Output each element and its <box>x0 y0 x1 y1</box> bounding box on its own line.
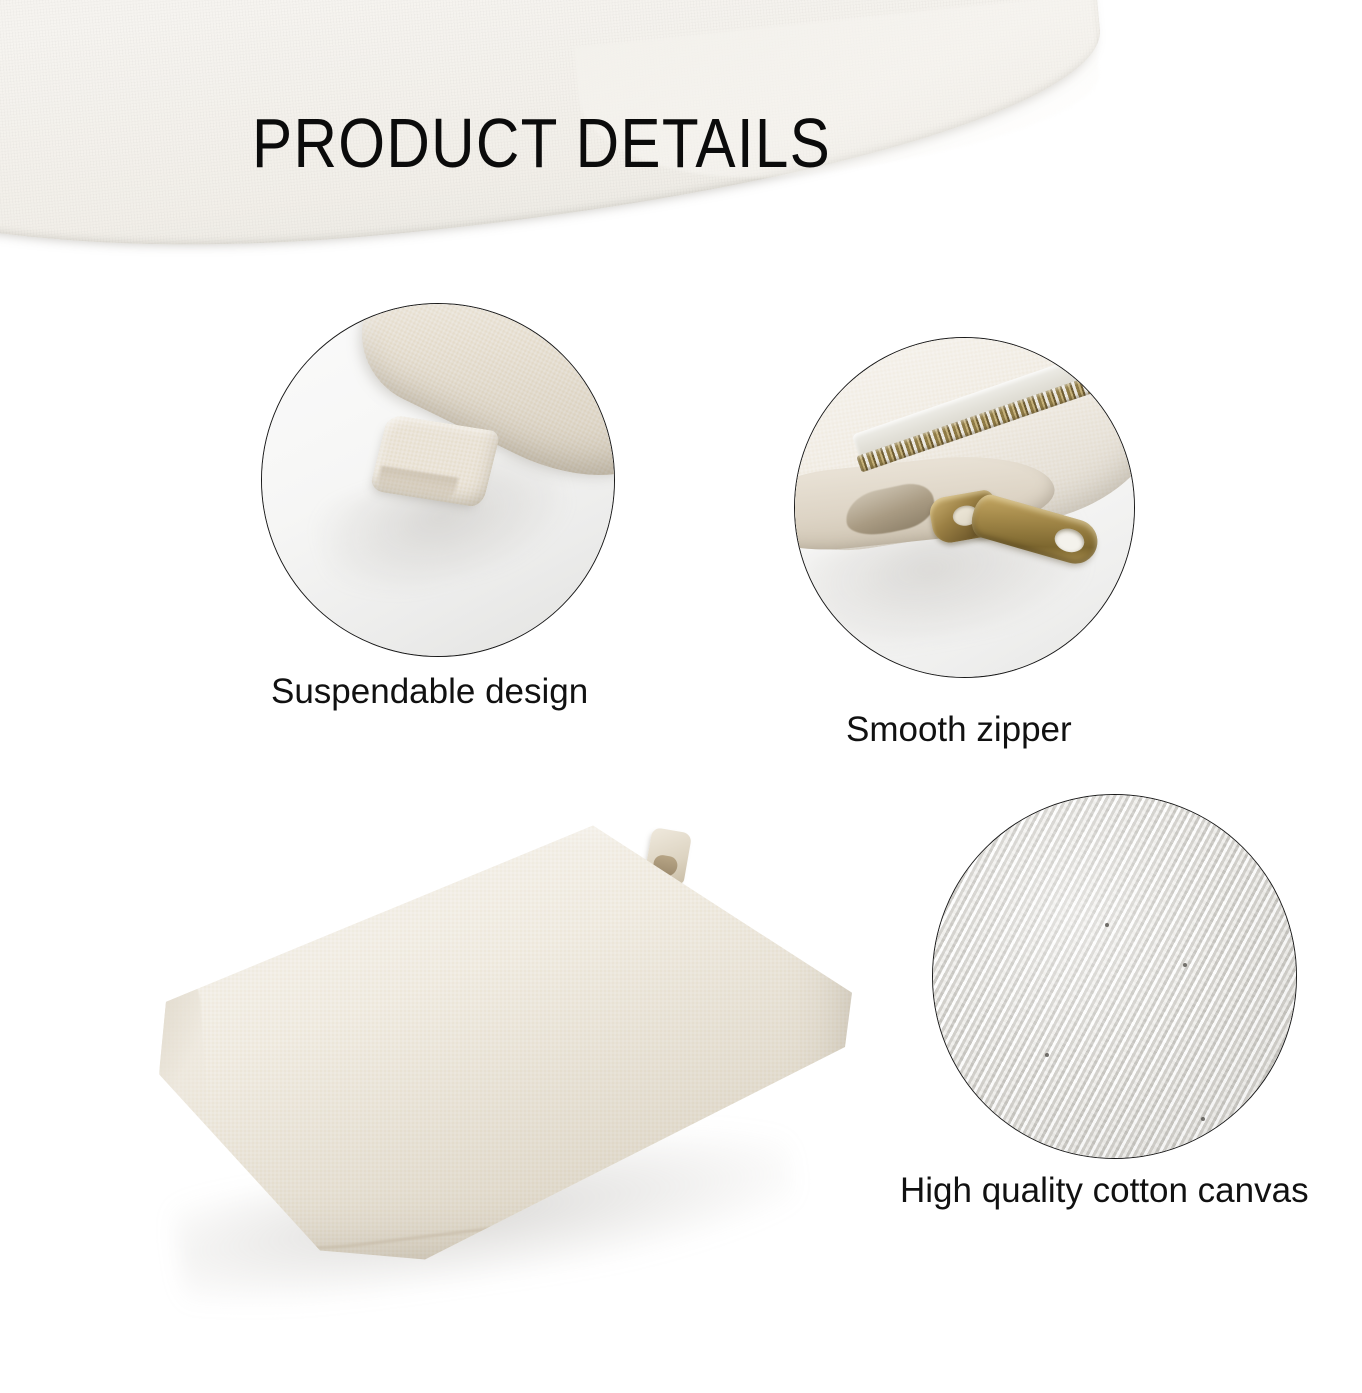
detail-image-cotton-canvas <box>933 795 1296 1158</box>
canvas-fleck <box>1045 1053 1049 1057</box>
caption-smooth-zipper: Smooth zipper <box>846 711 1072 750</box>
canvas-fleck <box>1105 923 1109 927</box>
canvas-fleck <box>1183 963 1187 967</box>
product-details-page: PRODUCT DETAILS Suspendable design Smoot… <box>0 0 1362 1393</box>
detail-circle-cotton-canvas <box>932 794 1297 1159</box>
detail-circle-zipper <box>794 337 1135 678</box>
detail-circle-suspendable <box>261 303 615 657</box>
canvas-fleck <box>1201 1117 1205 1121</box>
hero-pouch-body <box>152 812 852 1264</box>
detail-image-suspendable <box>262 304 614 656</box>
detail-image-zipper <box>795 338 1134 677</box>
caption-high-quality-cotton-canvas: High quality cotton canvas <box>900 1172 1309 1211</box>
page-title: PRODUCT DETAILS <box>252 108 871 178</box>
hero-pouch-bottom-seam <box>175 1046 749 1266</box>
hero-product-photo <box>152 812 852 1264</box>
caption-suspendable-design: Suspendable design <box>271 673 588 712</box>
canvas-weave-sheen <box>933 795 1296 1158</box>
hero-pouch-left-seam <box>153 987 208 1122</box>
